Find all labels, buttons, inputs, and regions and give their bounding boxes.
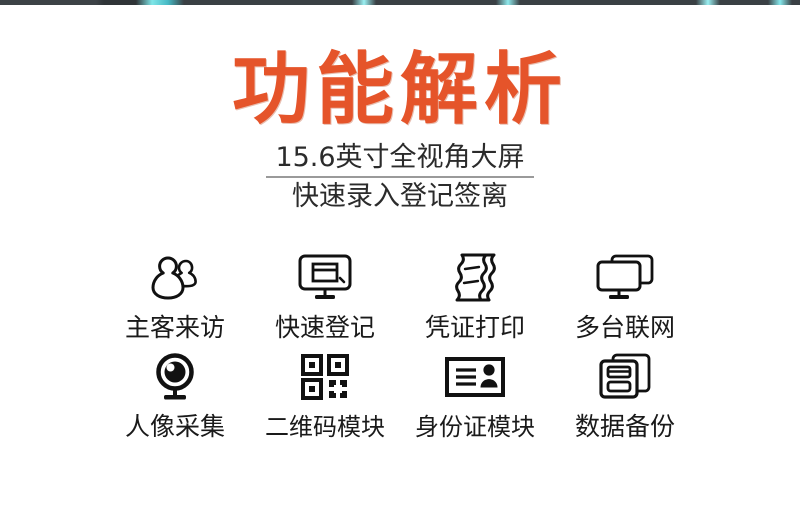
feature-label: 人像采集 <box>125 412 225 442</box>
feature-item-multi-network[interactable]: 多台联网 <box>550 252 700 343</box>
feature-label: 二维码模块 <box>265 412 385 442</box>
feature-label: 凭证打印 <box>425 313 525 343</box>
page-title: 功能解析 <box>0 0 800 133</box>
feature-item-portrait-capture[interactable]: 人像采集 <box>100 351 250 442</box>
feature-item-data-backup[interactable]: 数据备份 <box>550 351 700 442</box>
feature-row: 人像采集 二维码模块 <box>100 351 700 442</box>
feature-row: 主客来访 快速登记 <box>100 252 700 343</box>
feature-item-receipt-print[interactable]: 凭证打印 <box>400 252 550 343</box>
two-persons-icon <box>148 252 202 304</box>
header: 功能解析 15.6英寸全视角大屏 快速录入登记签离 <box>0 0 800 213</box>
feature-item-fast-register[interactable]: 快速登记 <box>250 252 400 343</box>
id-card-icon <box>445 351 505 403</box>
feature-item-qr-module[interactable]: 二维码模块 <box>250 351 400 442</box>
camera-portrait-icon <box>150 351 200 403</box>
feature-item-id-card-module[interactable]: 身份证模块 <box>400 351 550 442</box>
feature-label: 数据备份 <box>575 412 675 442</box>
feature-grid: 主客来访 快速登记 <box>100 252 700 450</box>
feature-label: 主客来访 <box>125 313 225 343</box>
subtitle-line-1: 15.6英寸全视角大屏 <box>266 141 534 174</box>
receipt-print-icon <box>450 252 500 304</box>
subtitle-block: 15.6英寸全视角大屏 快速录入登记签离 <box>266 133 534 213</box>
subtitle-divider <box>266 176 534 178</box>
feature-label: 身份证模块 <box>415 412 535 442</box>
qr-code-icon <box>301 351 349 403</box>
feature-label: 多台联网 <box>575 313 675 343</box>
multi-monitor-network-icon <box>595 252 655 304</box>
monitor-register-icon <box>296 252 354 304</box>
feature-item-visitor[interactable]: 主客来访 <box>100 252 250 343</box>
data-backup-icon <box>599 351 651 403</box>
subtitle-line-2: 快速录入登记签离 <box>266 180 534 213</box>
feature-label: 快速登记 <box>275 313 375 343</box>
